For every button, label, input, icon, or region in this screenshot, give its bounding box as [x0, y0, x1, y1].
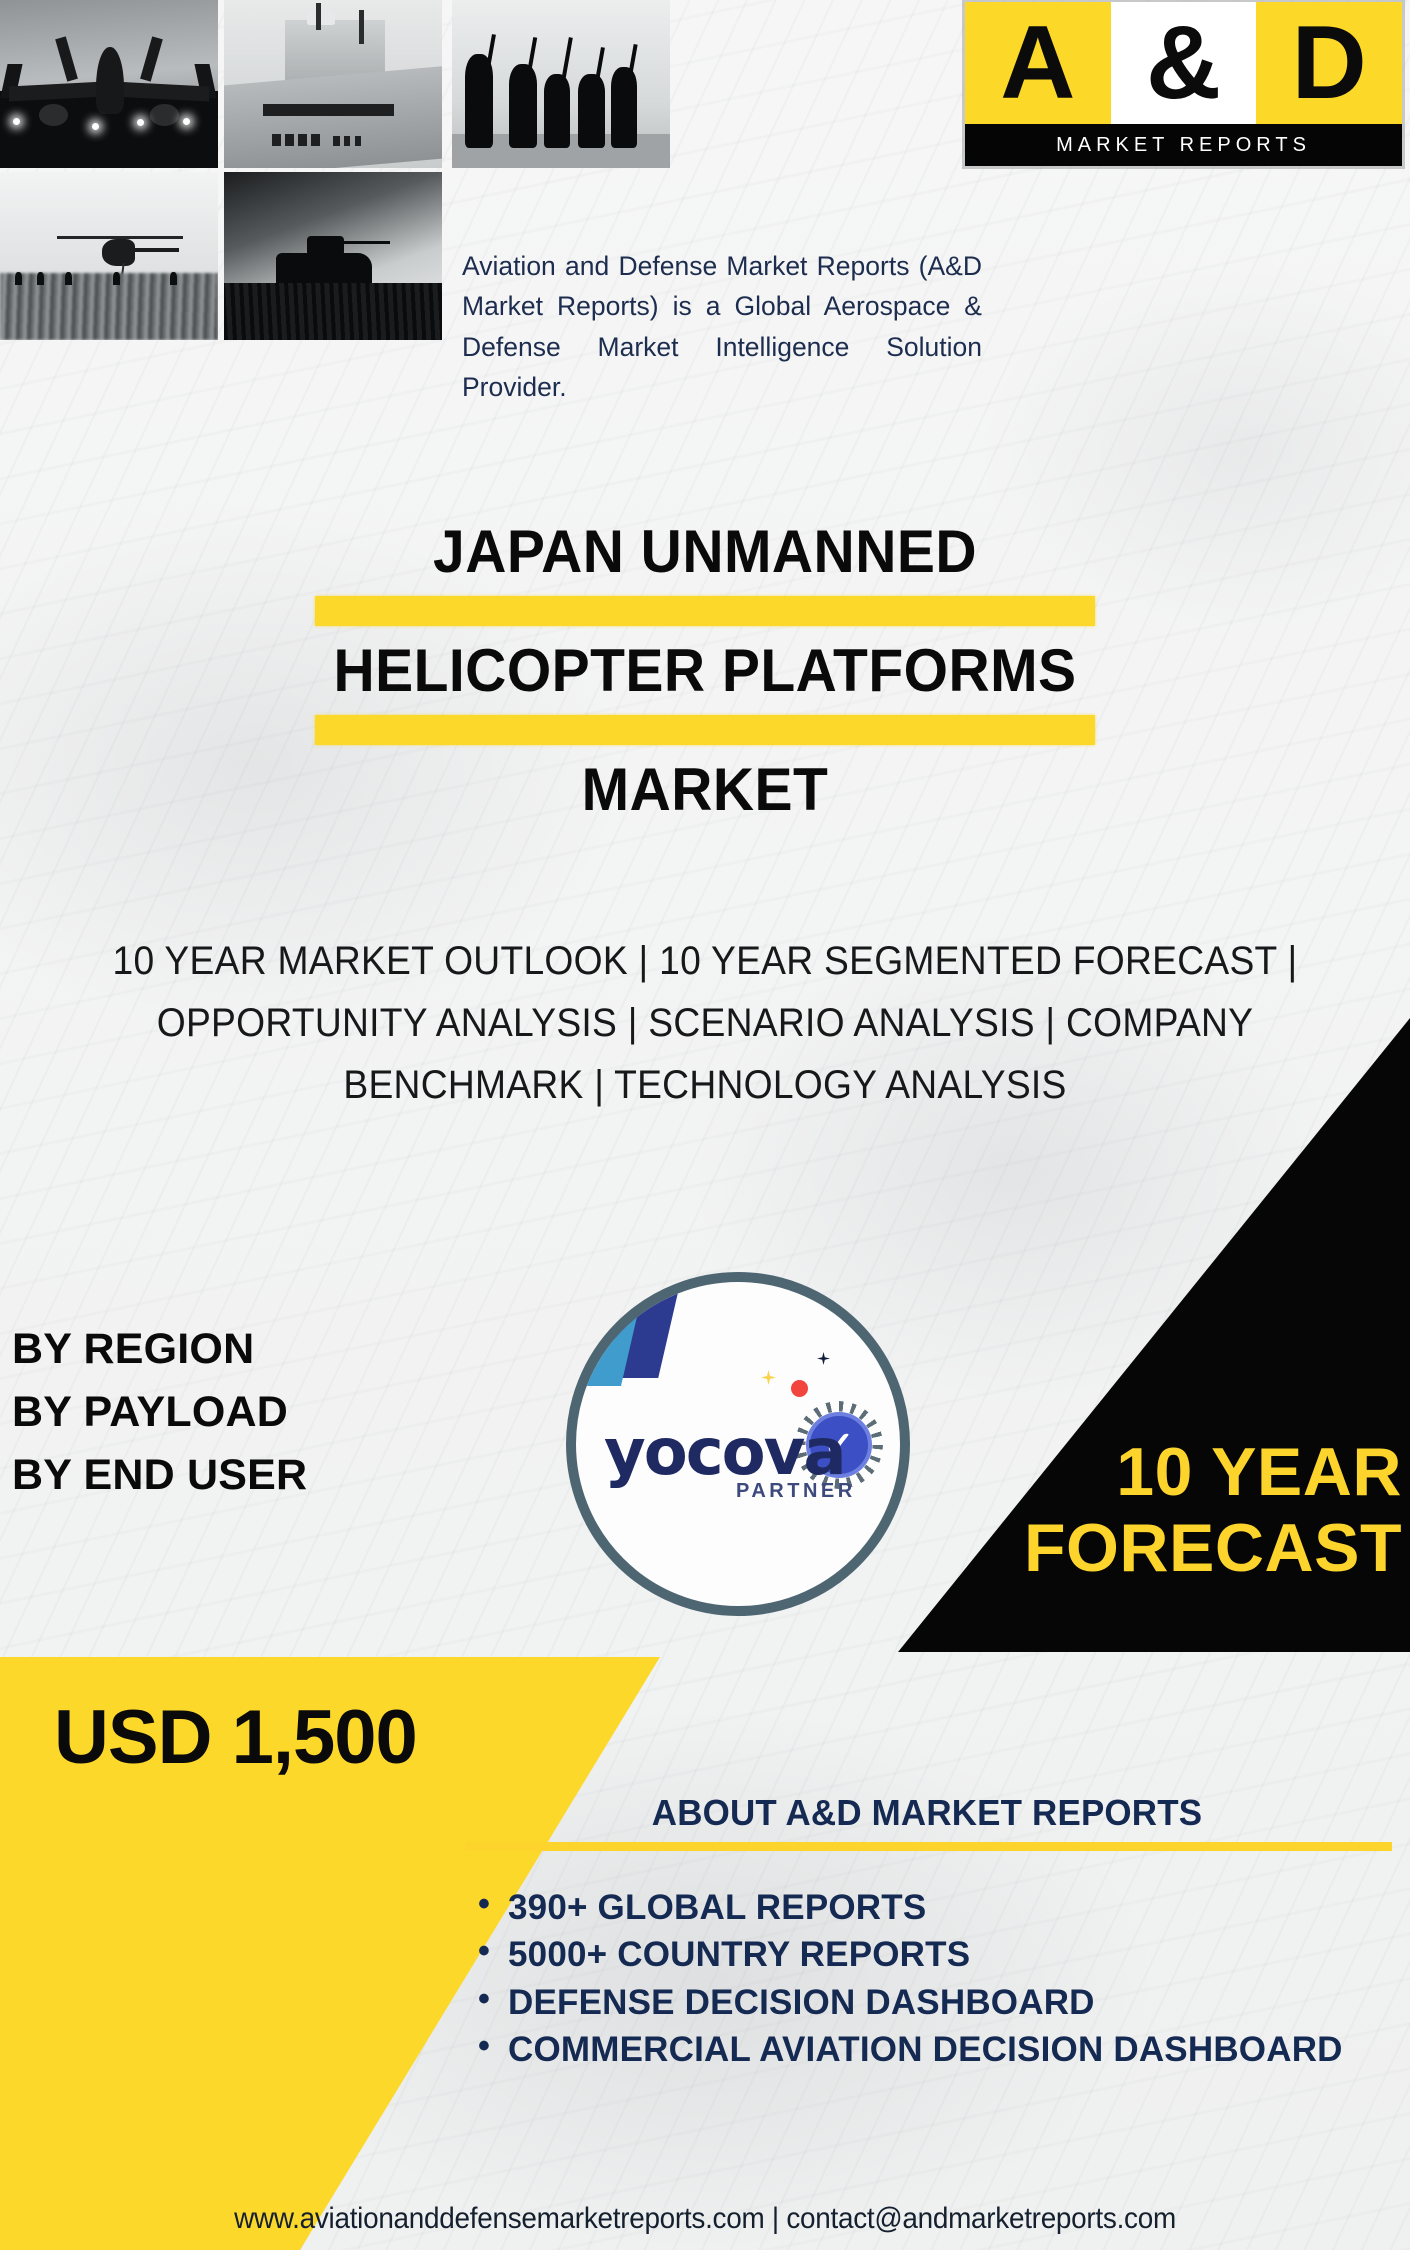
title-rule-2 [315, 715, 1095, 745]
report-subtitle: 10 YEAR MARKET OUTLOOK | 10 YEAR SEGMENT… [77, 930, 1333, 1116]
photo-armored-vehicle-at-dusk [224, 172, 442, 340]
segment-item-payload: BY PAYLOAD [12, 1381, 307, 1444]
segment-item-end-user: BY END USER [12, 1444, 307, 1507]
logo-subtitle-bar: MARKET REPORTS [965, 124, 1402, 166]
segment-item-region: BY REGION [12, 1318, 307, 1381]
about-panel: ABOUT A&D MARKET REPORTS 390+ GLOBAL REP… [462, 1792, 1392, 2076]
photo-military-helicopter [0, 172, 218, 340]
list-item: DEFENSE DECISION DASHBOARD [462, 1982, 1392, 2023]
sparkle-navy-icon [817, 1352, 830, 1365]
footer-contact[interactable]: www.aviationanddefensemarketreports.com … [49, 2202, 1360, 2236]
price-label: USD 1,500 [54, 1694, 417, 1781]
logo-letter-d: D [1256, 2, 1402, 124]
title-line-1: JAPAN UNMANNED [35, 520, 1375, 583]
forecast-line-1: 10 YEAR [1024, 1434, 1402, 1510]
logo-letter-blocks: A & D [965, 2, 1402, 124]
about-bullet-list: 390+ GLOBAL REPORTS 5000+ COUNTRY REPORT… [462, 1887, 1392, 2070]
yocova-partner-badge: yocova PARTNER [566, 1272, 910, 1616]
logo-letter-ampersand: & [1111, 2, 1257, 124]
about-title: ABOUT A&D MARKET REPORTS [476, 1792, 1378, 1834]
yocova-wordmark: yocova [604, 1416, 845, 1490]
yocova-partner-label: PARTNER [736, 1480, 856, 1503]
logo-subtitle-text: MARKET REPORTS [1056, 134, 1311, 157]
dot-red-icon [791, 1380, 808, 1397]
title-line-2: HELICOPTER PLATFORMS [35, 639, 1375, 702]
title-rule-1 [315, 596, 1095, 626]
segmentation-list: BY REGION BY PAYLOAD BY END USER [12, 1318, 307, 1508]
logo-letter-a: A [965, 2, 1111, 124]
photo-fighter-jet-on-carrier-deck [0, 0, 218, 168]
sparkle-yellow-icon [761, 1370, 776, 1385]
about-rule [465, 1842, 1392, 1851]
photo-naval-warship [224, 0, 442, 168]
report-cover-poster: A & D MARKET REPORTS Aviation and Defens… [0, 0, 1410, 2250]
report-title: JAPAN UNMANNED HELICOPTER PLATFORMS MARK… [0, 520, 1410, 821]
list-item: 390+ GLOBAL REPORTS [462, 1887, 1392, 1928]
title-line-3: MARKET [35, 758, 1375, 821]
ad-market-reports-logo: A & D MARKET REPORTS [965, 2, 1402, 166]
company-blurb: Aviation and Defense Market Reports (A&D… [462, 246, 982, 407]
forecast-banner: 10 YEAR FORECAST [1024, 1434, 1402, 1586]
list-item: 5000+ COUNTRY REPORTS [462, 1934, 1392, 1975]
list-item: COMMERCIAL AVIATION DECISION DASHBOARD [462, 2029, 1392, 2070]
photo-soldiers-silhouette [452, 0, 670, 168]
forecast-line-2: FORECAST [1024, 1510, 1402, 1586]
